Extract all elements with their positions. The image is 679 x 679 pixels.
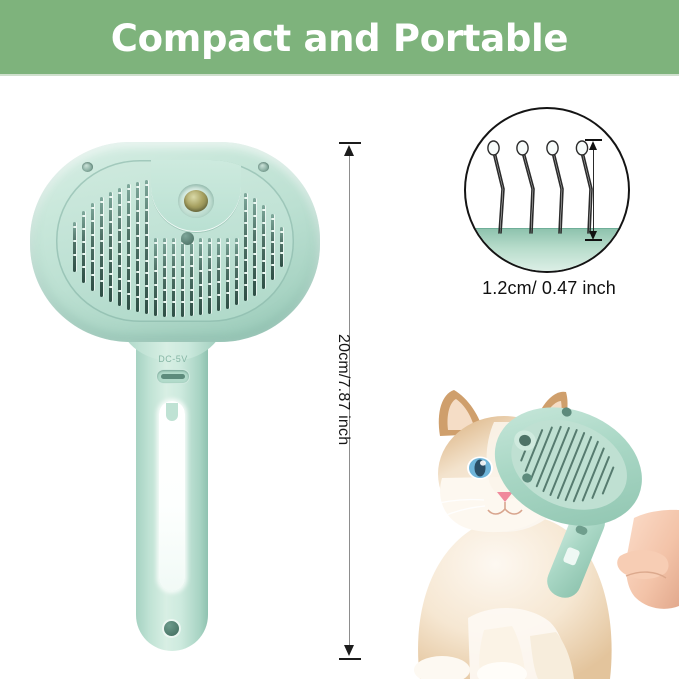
lifestyle-photo-cat — [398, 368, 679, 679]
bristle-pin — [109, 192, 112, 303]
bristle-pin — [154, 238, 157, 316]
bristle-pin — [262, 205, 265, 289]
bristle-pin — [253, 198, 256, 295]
bristle-pin — [118, 188, 121, 307]
bristle-pin — [244, 193, 247, 301]
bristle-pin — [181, 238, 184, 317]
bristle-pin — [199, 238, 202, 315]
infographic-page: Compact and Portable DC-5V — [0, 0, 679, 679]
bristle-pin — [163, 238, 166, 317]
bristle-pin — [280, 227, 283, 268]
bristle-pin — [136, 182, 139, 312]
handle-light-slot — [159, 401, 185, 591]
arrow-up-icon — [344, 145, 354, 156]
usb-c-port-icon — [156, 369, 190, 384]
height-dimension-label: 20cm/7.87 inch — [334, 334, 352, 445]
bristle-pin — [271, 214, 274, 280]
bristle-pin — [235, 238, 238, 305]
bristle-pin — [100, 197, 103, 298]
bristle-pin — [208, 238, 211, 314]
center-screw-icon — [181, 232, 194, 245]
product-image-brush: DC-5V — [18, 126, 328, 666]
bristle-pin — [172, 238, 175, 317]
dimension-cap-bottom — [339, 658, 361, 660]
bristle-pin — [73, 222, 76, 273]
header-banner: Compact and Portable — [0, 0, 679, 76]
pin-length-label: 1.2cm/ 0.47 inch — [444, 278, 654, 299]
page-title: Compact and Portable — [111, 20, 568, 57]
hanging-hole-icon — [164, 621, 179, 636]
bristle-pin — [82, 211, 85, 284]
arrow-down-icon — [344, 645, 354, 656]
content-stage: DC-5V 20cm/7.87 inch — [0, 76, 679, 679]
dc-voltage-label: DC-5V — [140, 354, 206, 364]
inset-dimension-cap-bottom — [585, 239, 602, 241]
inset-arrow-up-icon — [589, 141, 597, 150]
pin-detail-inset — [464, 107, 630, 273]
inset-dimension-shaft — [593, 143, 594, 237]
bristle-pin — [145, 180, 148, 314]
screw-right-icon — [258, 162, 269, 172]
brush-head-inner — [56, 160, 294, 322]
bristle-pin — [190, 238, 193, 316]
pin-length-dimension-line — [592, 139, 596, 241]
bristle-pin — [127, 184, 130, 309]
bristle-pin — [91, 203, 94, 292]
brush-head — [30, 142, 320, 342]
cat-with-brush-illustration — [398, 368, 679, 679]
inset-circle-frame — [464, 107, 630, 273]
power-button-icon — [178, 184, 214, 218]
dimension-cap-top — [339, 142, 361, 144]
bent-pins-illustration — [466, 109, 630, 273]
bristle-pin — [226, 238, 229, 309]
screw-left-icon — [82, 162, 93, 172]
bristle-pin — [217, 238, 220, 311]
